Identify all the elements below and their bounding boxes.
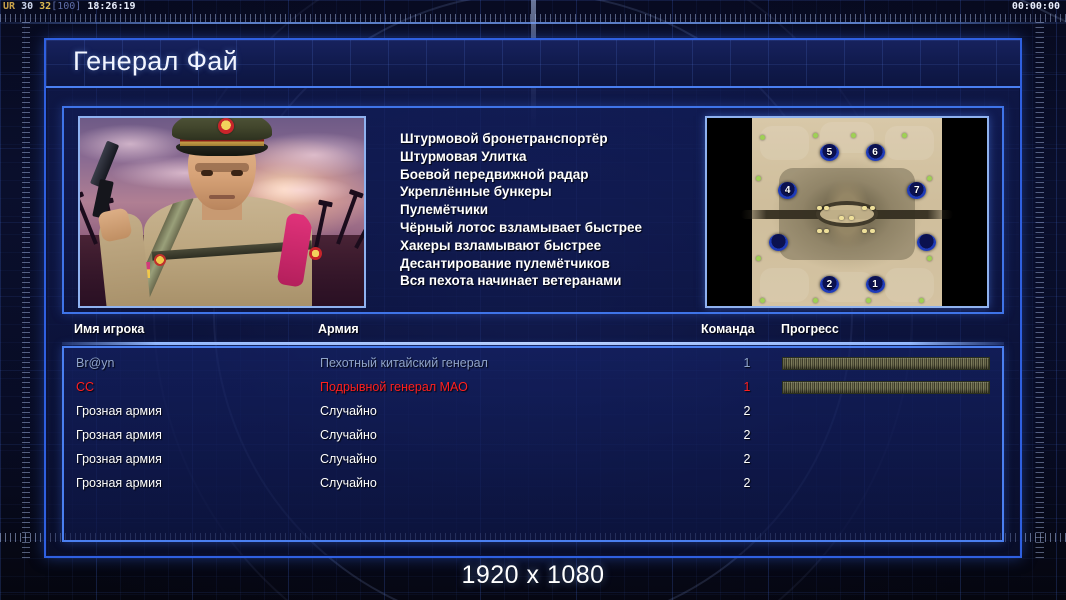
ruler-top (0, 14, 1066, 27)
ability-item: Боевой передвижной радар (400, 166, 730, 184)
general-info-frame: Штурмовой бронетранспортёр Штурмовая Ули… (62, 106, 1004, 314)
player-name: Грозная армия (76, 428, 162, 442)
table-row[interactable]: CC Подрывной генерал МАО 1 (64, 376, 1002, 400)
ability-item: Пулемётчики (400, 201, 730, 219)
player-team: 2 (736, 428, 758, 442)
map-terrain-tile (885, 126, 934, 161)
match-timer: 00:00:00 (1012, 1, 1060, 12)
status-prefix: UR (3, 1, 15, 12)
portrait-eye-right (231, 170, 243, 176)
status-bracket: [100] (51, 1, 81, 12)
map-supply-icon (919, 298, 924, 303)
table-row[interactable]: Грозная армия Случайно 2 (64, 424, 1002, 448)
map-oil-icon (849, 216, 854, 220)
map-oil-icon (817, 229, 822, 233)
window-titlebar: Генерал Фай (46, 40, 1020, 88)
map-supply-icon (866, 298, 871, 303)
player-army: Случайно (320, 452, 377, 466)
ability-item: Десантирование пулемётчиков (400, 255, 730, 273)
general-portrait (78, 116, 366, 308)
player-name: Грозная армия (76, 452, 162, 466)
map-supply-icon (813, 133, 818, 138)
map-supply-icon (813, 298, 818, 303)
map-start-position: 7 (907, 182, 926, 199)
player-name: CC (76, 380, 94, 394)
column-header-player: Имя игрока (74, 322, 144, 336)
top-hairline (0, 22, 1066, 24)
player-team: 2 (736, 404, 758, 418)
player-name: Br@yn (76, 356, 114, 370)
ability-item: Укреплённые бункеры (400, 183, 730, 201)
map-supply-icon (927, 256, 932, 261)
map-start-position (769, 234, 788, 251)
ruler-left (22, 22, 37, 562)
map-supply-icon (756, 256, 761, 261)
portrait-medal (309, 247, 322, 260)
player-army: Подрывной генерал МАО (320, 380, 468, 394)
general-abilities-list: Штурмовой бронетранспортёр Штурмовая Ули… (400, 130, 730, 290)
map-supply-icon (760, 135, 765, 140)
portrait-epaulette (276, 212, 311, 287)
column-header-progress: Прогресс (781, 322, 839, 336)
debug-status-left: UR 30 32[100] 18:26:19 (3, 1, 136, 12)
map-start-position: 1 (866, 276, 885, 293)
player-team: 2 (736, 452, 758, 466)
ability-item: Штурмовая Улитка (400, 148, 730, 166)
table-header-rule (62, 342, 1004, 345)
table-row[interactable]: Грозная армия Случайно 2 (64, 400, 1002, 424)
player-name: Грозная армия (76, 404, 162, 418)
ability-item: Хакеры взламывают быстрее (400, 237, 730, 255)
ruler-right (1029, 22, 1044, 562)
column-header-army: Армия (318, 322, 359, 336)
map-supply-icon (927, 176, 932, 181)
table-row[interactable]: Br@yn Пехотный китайский генерал 1 (64, 352, 1002, 376)
game-screen: UR 30 32[100] 18:26:19 00:00:00 Генерал … (0, 0, 1066, 600)
general-info-window: Генерал Фай (44, 38, 1022, 558)
map-start-position: 4 (778, 182, 797, 199)
map-start-position (917, 234, 936, 251)
player-table-header: Имя игрока Армия Команда Прогресс (62, 320, 1004, 342)
player-team: 2 (736, 476, 758, 490)
map-terrain-tile (760, 268, 809, 303)
ability-item: Штурмовой бронетранспортёр (400, 130, 730, 148)
status-value-1: 30 (21, 1, 33, 12)
player-army: Случайно (320, 428, 377, 442)
map-preview[interactable]: 5 6 4 7 2 1 (705, 116, 989, 308)
map-center-feature (816, 201, 878, 227)
table-row[interactable]: Грозная армия Случайно 2 (64, 448, 1002, 472)
map-oil-icon (817, 206, 822, 210)
page-title: Генерал Фай (73, 46, 238, 77)
player-team: 1 (736, 380, 758, 394)
map-terrain-tile (885, 268, 934, 303)
portrait-eye-left (201, 170, 213, 176)
player-team: 1 (736, 356, 758, 370)
ability-item: Вся пехота начинает ветеранами (400, 272, 730, 290)
ability-item: Чёрный лотос взламывает быстрее (400, 219, 730, 237)
player-army: Пехотный китайский генерал (320, 356, 488, 370)
status-value-2: 32 (39, 1, 51, 12)
player-army: Случайно (320, 476, 377, 490)
map-supply-icon (760, 298, 765, 303)
portrait-mouth (209, 195, 235, 199)
status-clock: 18:26:19 (87, 1, 135, 12)
map-start-position: 2 (820, 276, 839, 293)
portrait-medal (154, 254, 166, 266)
resolution-label: 1920 x 1080 (0, 561, 1066, 590)
portrait-cap-badge-icon (218, 118, 234, 134)
map-oil-icon (870, 206, 875, 210)
player-progress-bar (782, 381, 990, 394)
map-start-position: 6 (866, 144, 885, 161)
table-row[interactable]: Грозная армия Случайно 2 (64, 472, 1002, 496)
window-content: Штурмовой бронетранспортёр Штурмовая Ули… (46, 90, 1020, 556)
map-supply-icon (756, 176, 761, 181)
map-image: 5 6 4 7 2 1 (752, 118, 942, 308)
map-terrain-tile (760, 126, 809, 161)
column-header-team: Команда (701, 322, 755, 336)
player-name: Грозная армия (76, 476, 162, 490)
map-start-position: 5 (820, 144, 839, 161)
player-progress-bar (782, 357, 990, 370)
player-table: Br@yn Пехотный китайский генерал 1 CC По… (62, 346, 1004, 542)
player-army: Случайно (320, 404, 377, 418)
